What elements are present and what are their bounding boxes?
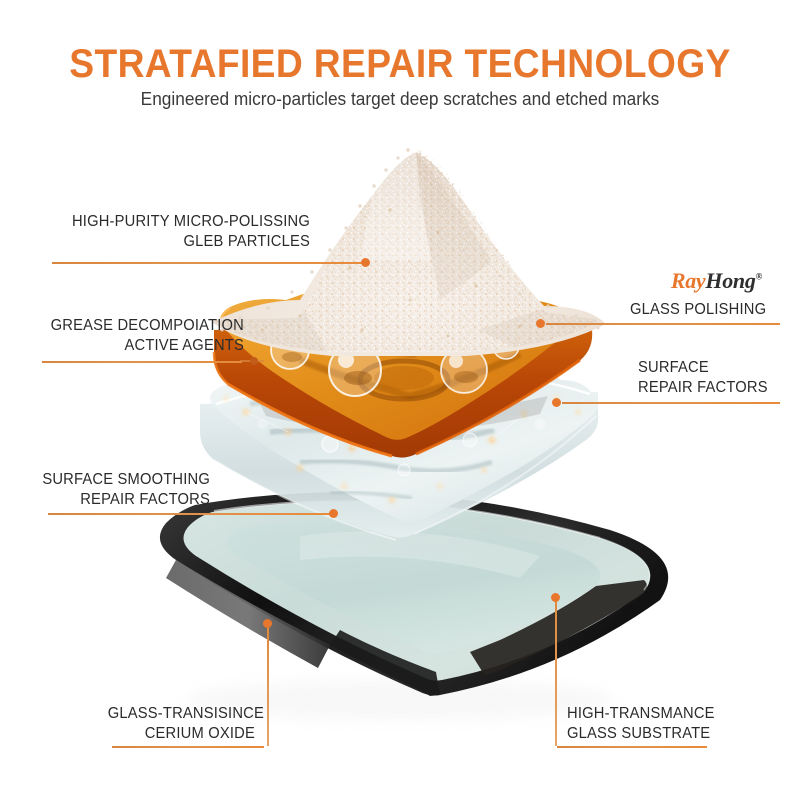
callout-line-2: REPAIR FACTORS [39,490,210,510]
gel-bubbles [271,320,551,396]
exploded-layer-illustration [0,0,800,800]
leader-line-surface-repair-factors [562,402,780,404]
page-subtitle: Engineered micro-particles target deep s… [16,89,784,110]
brand-name-first: Ray [671,268,706,293]
leader-dot-surface-smoothing [329,509,338,518]
callout-line-2: GLEB PARTICLES [44,232,310,252]
callout-label-micro-polishing-particles: HIGH-PURITY MICRO-POLISSING GLEB PARTICL… [44,212,310,252]
page-title: STRATAFIED REPAIR TECHNOLOGY [28,42,772,87]
leader-dot-brand [536,319,545,328]
leader-line-cerium-oxide-underline [112,746,264,748]
clear-gel-layer [200,362,598,550]
callout-line-2: ACTIVE AGENTS [41,336,244,356]
brand-tagline: GLASS POLISHING [630,300,782,320]
leader-line-micro-polishing-particles [52,262,365,264]
callout-line-1: SURFACE [638,358,790,378]
callout-line-2: CERIUM OXIDE [108,724,255,744]
callout-line-2: GLASS SUBSTRATE [567,724,733,744]
callout-label-cerium-oxide: GLASS-TRANSISINCE CERIUM OXIDE [108,704,255,744]
brand-tagline-text: GLASS POLISHING [630,300,782,320]
callout-line-1: SURFACE SMOOTHING [39,470,210,490]
leader-dot-grease-decomposition [250,357,258,365]
callout-line-1: GLASS-TRANSISINCE [108,704,255,724]
leader-line-surface-smoothing [48,513,334,515]
leader-line-glass-substrate-underline [557,746,707,748]
registered-trademark-icon: ® [756,272,762,282]
callout-line-1: GREASE DECOMPOIATION [41,316,244,336]
brand-logo: RayHong® [0,268,762,294]
callout-line-1: HIGH-TRANSMANCE [567,704,733,724]
callout-label-glass-substrate: HIGH-TRANSMANCE GLASS SUBSTRATE [567,704,733,744]
callout-label-grease-decomposition: GREASE DECOMPOIATION ACTIVE AGENTS [41,316,244,356]
powder-mound-layer [190,140,620,370]
leader-line-glass-substrate [555,601,557,746]
amber-gel-layer [214,272,592,458]
leader-line-brand [546,323,780,325]
glass-substrate-layer [160,492,668,720]
callout-label-surface-repair-factors: SURFACE REPAIR FACTORS [638,358,790,398]
callout-label-surface-smoothing: SURFACE SMOOTHING REPAIR FACTORS [39,470,210,510]
leader-dot-micro-polishing-particles [361,258,370,267]
callout-line-2: REPAIR FACTORS [638,378,790,398]
leader-dot-cerium-oxide [263,619,272,628]
brand-name-second: Hong [705,268,755,293]
infographic-canvas: STRATAFIED REPAIR TECHNOLOGY Engineered … [0,0,800,800]
sparkle-points [224,396,580,503]
callout-line-1: HIGH-PURITY MICRO-POLISSING [44,212,310,232]
leader-line-grease-decomposition [42,361,242,363]
leader-line-cerium-oxide [267,627,269,746]
leader-dot-glass-substrate [551,593,560,602]
leader-dot-surface-repair-factors [552,398,561,407]
